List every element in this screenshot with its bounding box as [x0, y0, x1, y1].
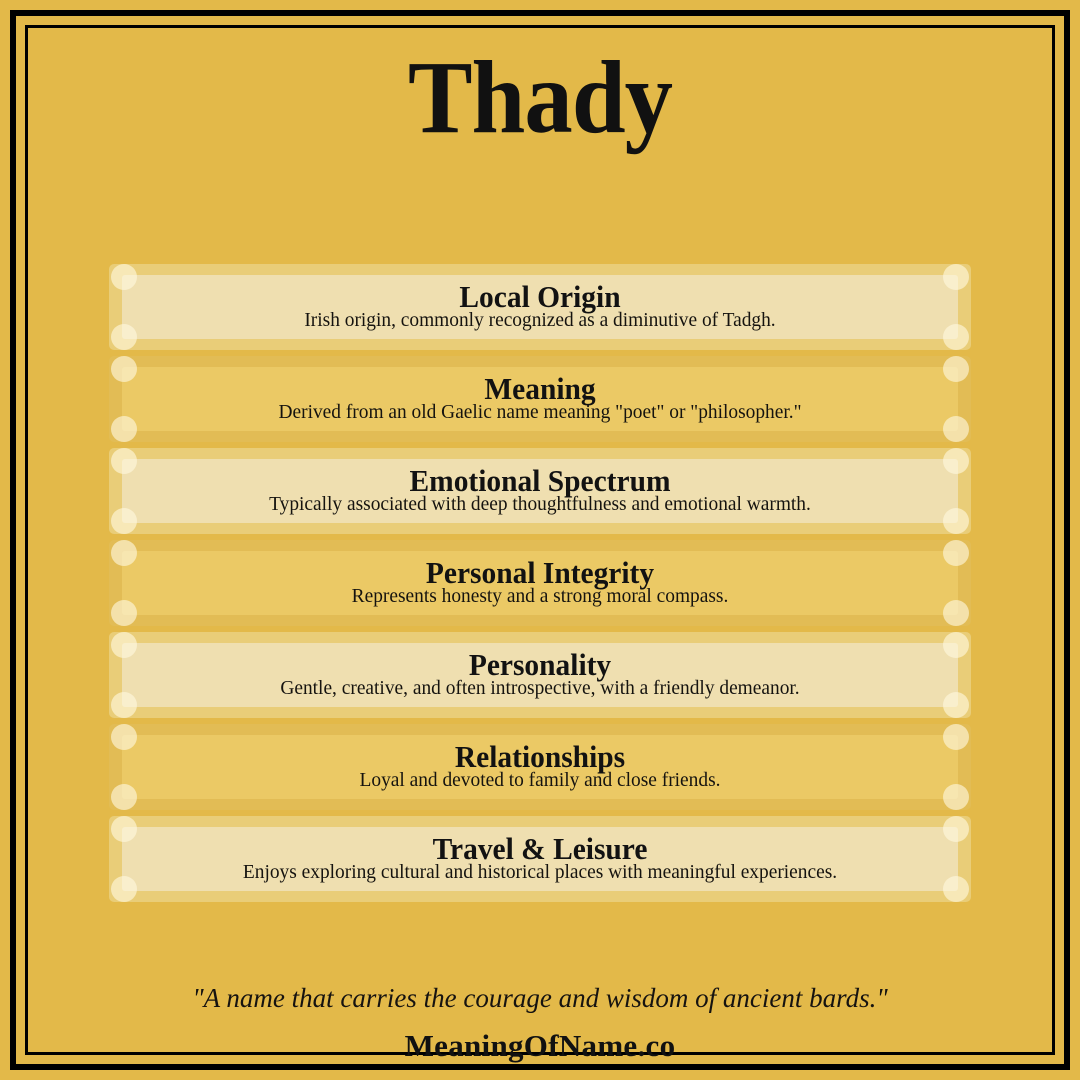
card-heading: Emotional Spectrum — [157, 466, 923, 496]
attribute-card-personality: Personality Gentle, creative, and often … — [109, 632, 971, 718]
card-description: Enjoys exploring cultural and historical… — [149, 861, 931, 883]
tagline-quote: "A name that carries the courage and wis… — [109, 982, 971, 1014]
card-description: Derived from an old Gaelic name meaning … — [149, 401, 931, 423]
poster-footer: "A name that carries the courage and wis… — [109, 982, 971, 1064]
attribute-card-list: Local Origin Irish origin, commonly reco… — [109, 264, 971, 908]
attribute-card-local-origin: Local Origin Irish origin, commonly reco… — [109, 264, 971, 350]
attribute-card-travel-leisure: Travel & Leisure Enjoys exploring cultur… — [109, 816, 971, 902]
card-text: Relationships Loyal and devoted to famil… — [109, 742, 971, 791]
card-heading: Relationships — [157, 742, 923, 772]
attribute-card-emotional-spectrum: Emotional Spectrum Typically associated … — [109, 448, 971, 534]
brand-name: MeaningOfName.co — [109, 1028, 971, 1064]
card-text: Emotional Spectrum Typically associated … — [109, 466, 971, 515]
attribute-card-personal-integrity: Personal Integrity Represents honesty an… — [109, 540, 971, 626]
card-text: Meaning Derived from an old Gaelic name … — [109, 374, 971, 423]
poster-content: Thady Local Origin Irish origin, commonl… — [28, 28, 1052, 1052]
card-text: Personality Gentle, creative, and often … — [109, 650, 971, 699]
card-heading: Travel & Leisure — [157, 834, 923, 864]
card-heading: Local Origin — [157, 282, 923, 312]
card-heading: Meaning — [157, 374, 923, 404]
attribute-card-relationships: Relationships Loyal and devoted to famil… — [109, 724, 971, 810]
card-text: Travel & Leisure Enjoys exploring cultur… — [109, 834, 971, 883]
card-description: Typically associated with deep thoughtfu… — [149, 493, 931, 515]
name-meaning-poster: Thady Local Origin Irish origin, commonl… — [0, 0, 1080, 1080]
card-heading: Personal Integrity — [157, 558, 923, 588]
card-text: Personal Integrity Represents honesty an… — [109, 558, 971, 607]
attribute-card-meaning: Meaning Derived from an old Gaelic name … — [109, 356, 971, 442]
card-heading: Personality — [157, 650, 923, 680]
card-description: Irish origin, commonly recognized as a d… — [149, 309, 931, 331]
card-description: Gentle, creative, and often introspectiv… — [149, 677, 931, 699]
card-description: Loyal and devoted to family and close fr… — [149, 769, 931, 791]
card-description: Represents honesty and a strong moral co… — [149, 585, 931, 607]
page-title: Thady — [408, 46, 672, 150]
card-text: Local Origin Irish origin, commonly reco… — [109, 282, 971, 331]
